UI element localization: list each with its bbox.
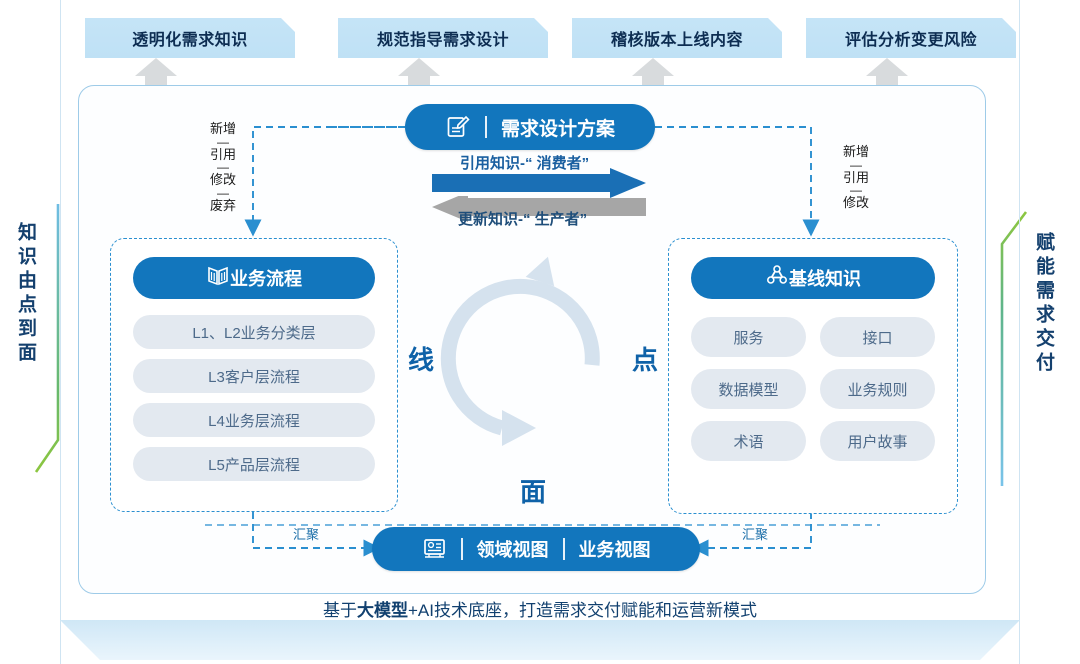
top-box-label: 透明化需求知识 (132, 26, 248, 50)
right-op-sep-0: — (850, 159, 862, 171)
right-panel-baseline-knowledge: 基线知识 服务 接口 数据模型 业务规则 术语 用户故事 (668, 238, 958, 514)
flow-label-update: 更新知识-“ 生产者” (458, 208, 587, 229)
caption-suffix: +AI技术底座，打造需求交付赋能和运营新模式 (408, 601, 757, 620)
converge-label-right: 汇聚 (742, 524, 768, 543)
bottom-caption: 基于大模型+AI技术底座，打造需求交付赋能和运营新模式 (0, 596, 1080, 621)
right-op-1: 引用 (843, 171, 869, 185)
flow-label-cite: 引用知识-“ 消费者” (460, 152, 589, 173)
bottom-pill-label-business: 业务视图 (579, 536, 651, 562)
top-box-label: 规范指导需求设计 (377, 26, 509, 50)
right-op-0: 新增 (843, 145, 869, 159)
right-ops-list: 新增 — 引用 — 修改 (833, 145, 879, 210)
cycle-arrow-icon (440, 250, 630, 470)
left-op-0: 新增 (210, 122, 236, 136)
left-panel-item-1[interactable]: L3客户层流程 (133, 359, 375, 393)
top-box-1[interactable]: 规范指导需求设计 (338, 18, 548, 58)
caption-prefix: 基于 (323, 601, 357, 620)
left-panel-item-2[interactable]: L4业务层流程 (133, 403, 375, 437)
right-panel-item-3[interactable]: 业务规则 (820, 369, 935, 409)
center-pill-requirement-design[interactable]: 需求设计方案 (405, 104, 655, 150)
bottom-pill-label-domain: 领域视图 (477, 536, 549, 562)
pill-divider (563, 538, 565, 560)
right-panel-item-1[interactable]: 接口 (820, 317, 935, 357)
left-side-caption: 知识由点到面 (16, 222, 35, 366)
left-op-1: 引用 (210, 148, 236, 162)
right-side-caption: 赋能需求交付 (1034, 232, 1053, 376)
caption-strong: 大模型 (357, 601, 408, 620)
right-panel-item-0[interactable]: 服务 (691, 317, 806, 357)
left-ops-list: 新增 — 引用 — 修改 — 废弃 (200, 122, 246, 213)
right-op-2: 修改 (843, 196, 869, 210)
right-panel-items: 服务 接口 数据模型 业务规则 术语 用户故事 (691, 317, 935, 461)
left-op-sep-0: — (217, 136, 229, 148)
right-panel-item-2[interactable]: 数据模型 (691, 369, 806, 409)
center-pill-label: 需求设计方案 (501, 114, 615, 141)
diagram-canvas: 透明化需求知识 规范指导需求设计 稽核版本上线内容 评估分析变更风险 (0, 0, 1080, 664)
top-box-2[interactable]: 稽核版本上线内容 (572, 18, 782, 58)
cycle-label-point: 点 (632, 340, 658, 377)
top-box-0[interactable]: 透明化需求知识 (85, 18, 295, 58)
top-box-label: 稽核版本上线内容 (611, 26, 743, 50)
cycle-label-line: 线 (408, 340, 434, 377)
converge-label-left: 汇聚 (293, 524, 319, 543)
cycle-label-plane: 面 (520, 472, 546, 509)
left-op-3: 废弃 (210, 199, 236, 213)
left-panel-business-process: 业务流程 L1、L2业务分类层 L3客户层流程 L4业务层流程 L5产品层流程 (110, 238, 398, 512)
document-pen-icon (445, 114, 471, 140)
edge-line-left (60, 0, 61, 664)
left-panel-header[interactable]: 业务流程 (133, 257, 375, 299)
pill-divider (485, 116, 487, 138)
right-panel-item-4[interactable]: 术语 (691, 421, 806, 461)
recycle-nodes-icon (765, 264, 789, 293)
left-op-2: 修改 (210, 173, 236, 187)
right-panel-header[interactable]: 基线知识 (691, 257, 935, 299)
left-panel-item-0[interactable]: L1、L2业务分类层 (133, 315, 375, 349)
bottom-pill-views[interactable]: 领域视图 业务视图 (372, 527, 700, 571)
left-panel-items: L1、L2业务分类层 L3客户层流程 L4业务层流程 L5产品层流程 (133, 315, 375, 481)
presentation-board-icon (422, 537, 447, 561)
book-pages-icon (206, 265, 230, 292)
right-panel-item-5[interactable]: 用户故事 (820, 421, 935, 461)
left-panel-item-3[interactable]: L5产品层流程 (133, 447, 375, 481)
bottom-banner (60, 620, 1020, 660)
left-panel-title: 业务流程 (230, 265, 302, 291)
edge-line-right (1019, 0, 1020, 664)
pill-divider (461, 538, 463, 560)
right-panel-title: 基线知识 (789, 265, 861, 291)
top-box-label: 评估分析变更风险 (845, 26, 977, 50)
top-box-3[interactable]: 评估分析变更风险 (806, 18, 1016, 58)
